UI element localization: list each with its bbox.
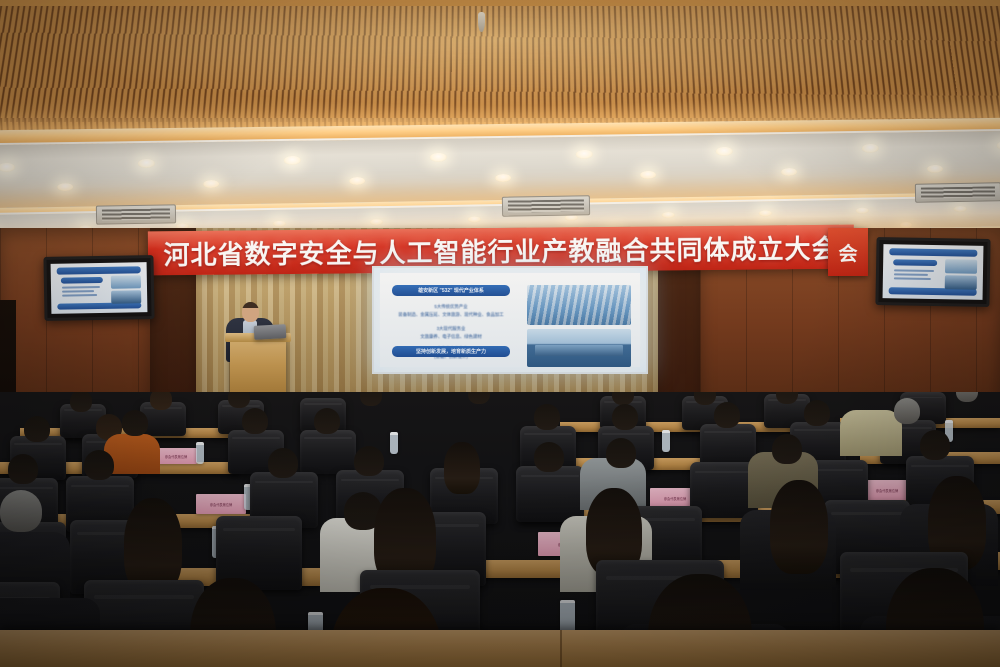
downlight: [203, 180, 219, 188]
downlight: [138, 159, 155, 168]
downlight: [0, 163, 15, 172]
name-card: 参会代表席位牌: [155, 448, 197, 464]
downlight: [996, 141, 1000, 150]
laptop-icon: [254, 324, 287, 340]
ceiling-air-vent: [915, 182, 1000, 202]
downlight: [575, 150, 592, 159]
chair: [516, 466, 584, 522]
attendee-head: [534, 404, 560, 430]
wall-monitor-left: [43, 255, 154, 321]
ceiling-air-vent: [96, 204, 176, 224]
attendee-head: [122, 410, 148, 436]
downlight: [861, 144, 878, 153]
attendee-head: [606, 438, 636, 468]
downlight: [953, 206, 966, 212]
downlight: [640, 171, 656, 179]
slide-photo-building: [527, 329, 631, 367]
ceiling: [0, 0, 1000, 240]
attendee-head: [534, 442, 564, 472]
slide-block-1-body: 装备制造、金属压延、文体旅游、现代种业、食品加工: [388, 311, 514, 319]
wall-monitor-left-screen: [51, 262, 148, 314]
slide-title-text: 雄安新区 "532" 现代产业体系: [418, 287, 484, 294]
attendee-head: [8, 454, 38, 484]
attendee-head: [228, 392, 250, 408]
audience-area: 参会代表席位牌 参会代表席位牌 参会代表席位牌: [0, 392, 1000, 667]
attendee-head: [314, 408, 340, 434]
water-bottle: [662, 430, 670, 452]
slide-footer-bar: 坚持创新发展，培育新质生产力: [392, 346, 510, 357]
attendee-head: [772, 434, 802, 464]
attendee-head: [956, 392, 978, 402]
downlight: [759, 210, 772, 216]
attendee-head: [920, 430, 950, 460]
downlight: [430, 153, 447, 162]
attendee-head: [894, 398, 920, 424]
attendee-head: [24, 416, 50, 442]
downlight: [495, 174, 511, 182]
attendee-head: [468, 392, 490, 404]
attendee-head: [804, 400, 830, 426]
side-doorway: [0, 300, 16, 403]
conference-hall-photo: 河北省数字安全与人工智能行业产教融合共同体成立大会 会 雄安新区 "532" 现…: [0, 0, 1000, 667]
wood-slat-ceiling-upper: [0, 6, 1000, 122]
downlight: [370, 219, 383, 225]
slide-block-2-body: 文旅康养、电子信息、绿色建材: [388, 333, 514, 341]
wall-sign: 会: [828, 228, 868, 276]
downlight: [716, 147, 733, 156]
downlight: [662, 212, 675, 218]
wall-monitor-right-screen: [883, 244, 984, 300]
slide-photo-factory: [527, 285, 631, 325]
downlight: [467, 216, 480, 222]
downlight: [349, 177, 365, 185]
downlight: [856, 208, 869, 214]
attendee-head: [70, 392, 92, 412]
attendee-long-hair: [770, 480, 828, 574]
slide-block-1: 5大传统优势产业 装备制造、金属压延、文体旅游、现代种业、食品加工: [388, 303, 514, 320]
chair: [300, 430, 356, 474]
downlight: [284, 156, 301, 165]
foreground-table: [0, 630, 1000, 667]
slide-title-bar: 雄安新区 "532" 现代产业体系: [392, 285, 510, 296]
attendee-head: [150, 392, 172, 410]
slide-block-2: 3大现代服务业 文旅康养、电子信息、绿色建材: [388, 325, 514, 342]
name-card: 参会代表席位牌: [862, 480, 912, 500]
wall-monitor-right: [875, 237, 990, 307]
downlight: [781, 168, 797, 176]
attendee-head: [268, 448, 298, 478]
attendee-head: [714, 402, 740, 428]
downlight: [273, 221, 286, 227]
projection-screen: 雄安新区 "532" 现代产业体系 5大传统优势产业 装备制造、金属压延、文体旅…: [372, 266, 648, 374]
slide-block-2-heading: 3大现代服务业: [388, 325, 514, 333]
attendee-head: [360, 392, 382, 406]
water-bottle: [390, 432, 398, 454]
attendee-head: [612, 404, 638, 430]
attendee-head: [0, 490, 42, 532]
attendee-long-hair: [444, 442, 480, 494]
name-card: 参会代表席位牌: [196, 494, 246, 514]
water-bottle: [196, 442, 204, 464]
slide-block-1-heading: 5大传统优势产业: [388, 303, 514, 311]
attendee-head: [354, 446, 384, 476]
downlight: [57, 183, 73, 191]
wall-sign-glyph: 会: [838, 239, 857, 266]
sprinkler-icon: [478, 12, 485, 32]
speaker-head: [242, 302, 259, 322]
ceiling-air-vent: [502, 195, 590, 217]
attendee-body: [840, 410, 902, 456]
attendee-head: [242, 408, 268, 434]
downlight: [927, 165, 943, 173]
slide-footer-text: 坚持创新发展，培育新质生产力: [416, 348, 486, 355]
attendee-head: [84, 450, 114, 480]
podium: [230, 338, 286, 398]
